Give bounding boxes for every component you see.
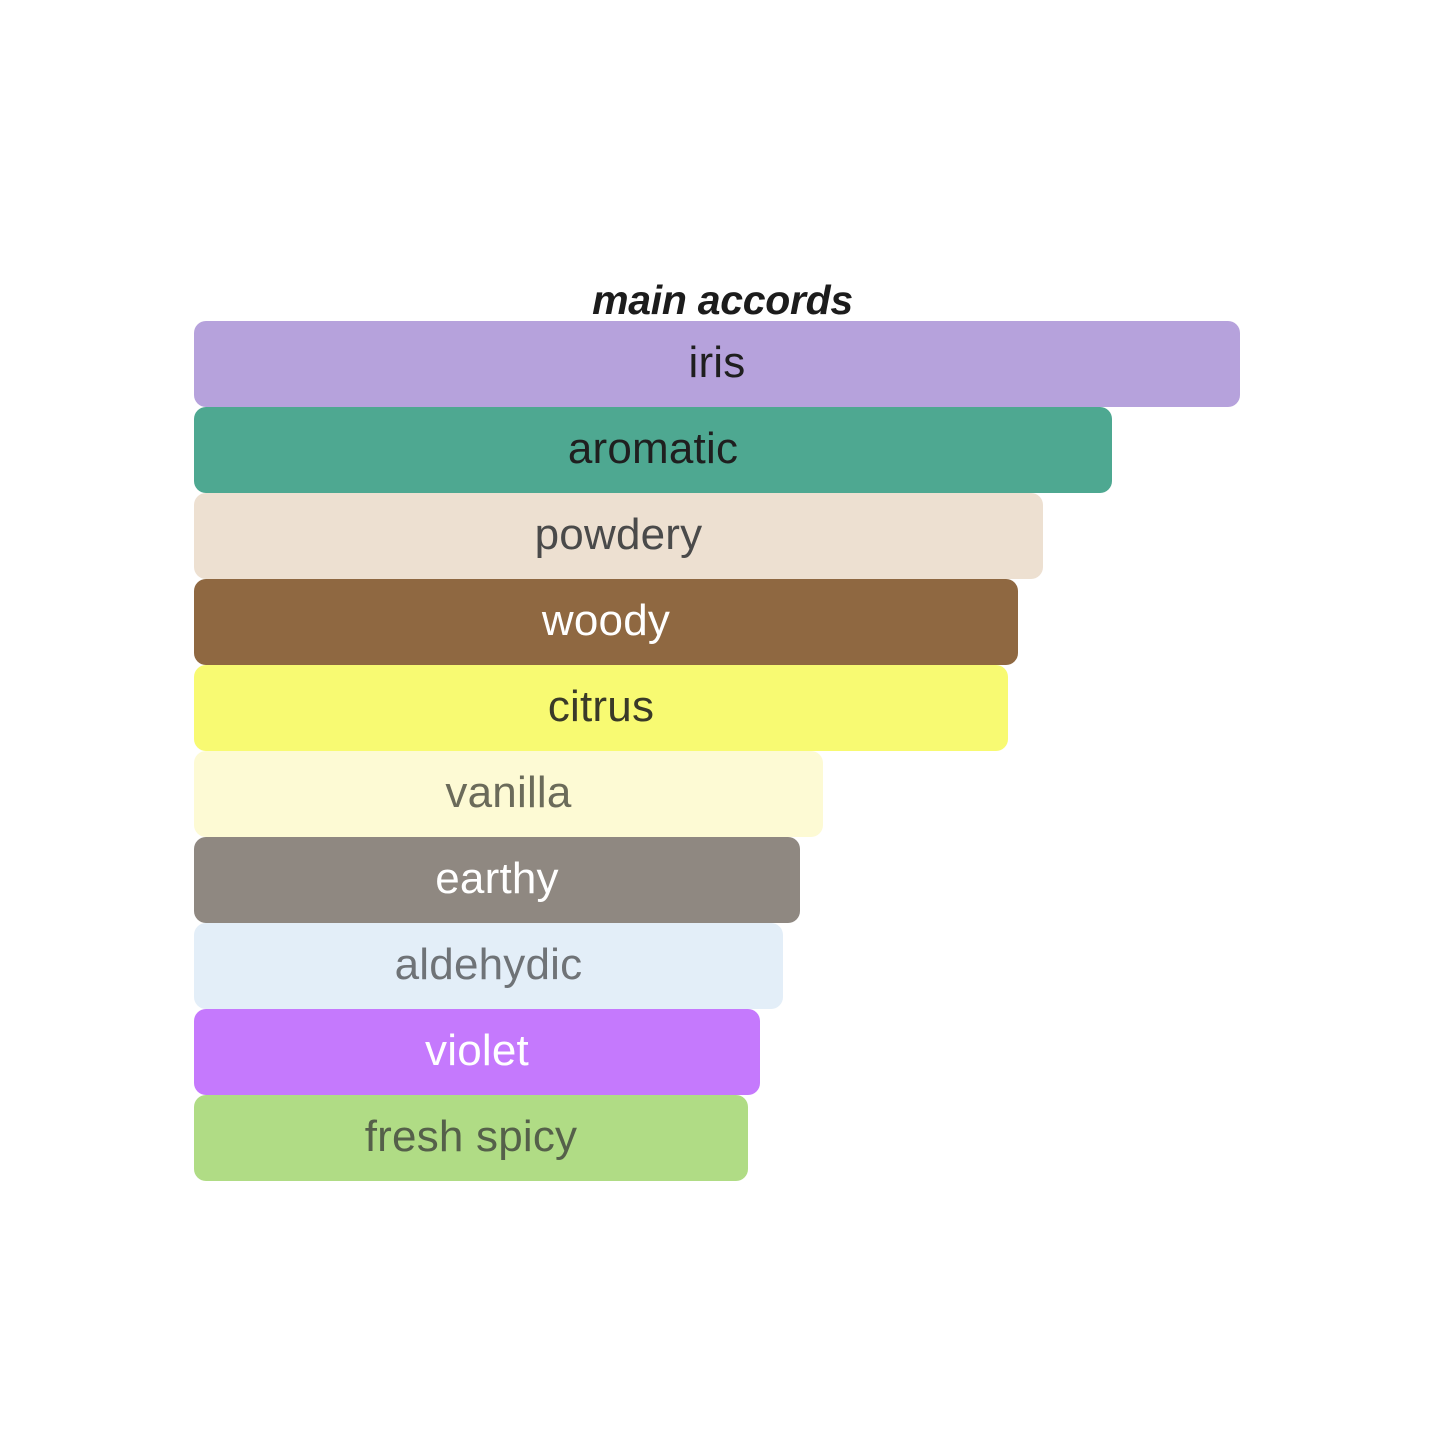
accord-label: vanilla	[445, 771, 571, 815]
accord-label: aldehydic	[395, 943, 583, 987]
accord-label: fresh spicy	[365, 1115, 578, 1159]
accord-bar[interactable]: citrus	[194, 665, 1008, 751]
accord-row: vanilla	[194, 751, 1294, 837]
accord-bar[interactable]: aromatic	[194, 407, 1112, 493]
accord-row: aromatic	[194, 407, 1294, 493]
accord-label: powdery	[535, 513, 703, 557]
accord-bar[interactable]: aldehydic	[194, 923, 783, 1009]
accord-label: iris	[688, 341, 745, 385]
accord-bar[interactable]: woody	[194, 579, 1018, 665]
accord-label: citrus	[548, 685, 654, 729]
accord-label: aromatic	[568, 427, 738, 471]
accord-row: violet	[194, 1009, 1294, 1095]
accord-row: aldehydic	[194, 923, 1294, 1009]
accord-label: earthy	[435, 857, 559, 901]
accord-label: violet	[425, 1029, 529, 1073]
accord-label: woody	[542, 599, 670, 643]
accord-row: earthy	[194, 837, 1294, 923]
accords-bar-chart: irisaromaticpowderywoodycitrusvanillaear…	[194, 321, 1294, 1181]
page-title: main accords	[0, 277, 1445, 324]
accord-bar[interactable]: powdery	[194, 493, 1043, 579]
accord-row: iris	[194, 321, 1294, 407]
accord-bar[interactable]: earthy	[194, 837, 800, 923]
accord-bar[interactable]: violet	[194, 1009, 760, 1095]
accord-bar[interactable]: vanilla	[194, 751, 823, 837]
accord-bar[interactable]: iris	[194, 321, 1240, 407]
main-accords-widget: main accords irisaromaticpowderywoodycit…	[0, 0, 1445, 1445]
accord-bar[interactable]: fresh spicy	[194, 1095, 748, 1181]
accord-row: citrus	[194, 665, 1294, 751]
accord-row: fresh spicy	[194, 1095, 1294, 1181]
accord-row: powdery	[194, 493, 1294, 579]
screenshot-canvas: main accords irisaromaticpowderywoodycit…	[0, 0, 1445, 1445]
accord-row: woody	[194, 579, 1294, 665]
